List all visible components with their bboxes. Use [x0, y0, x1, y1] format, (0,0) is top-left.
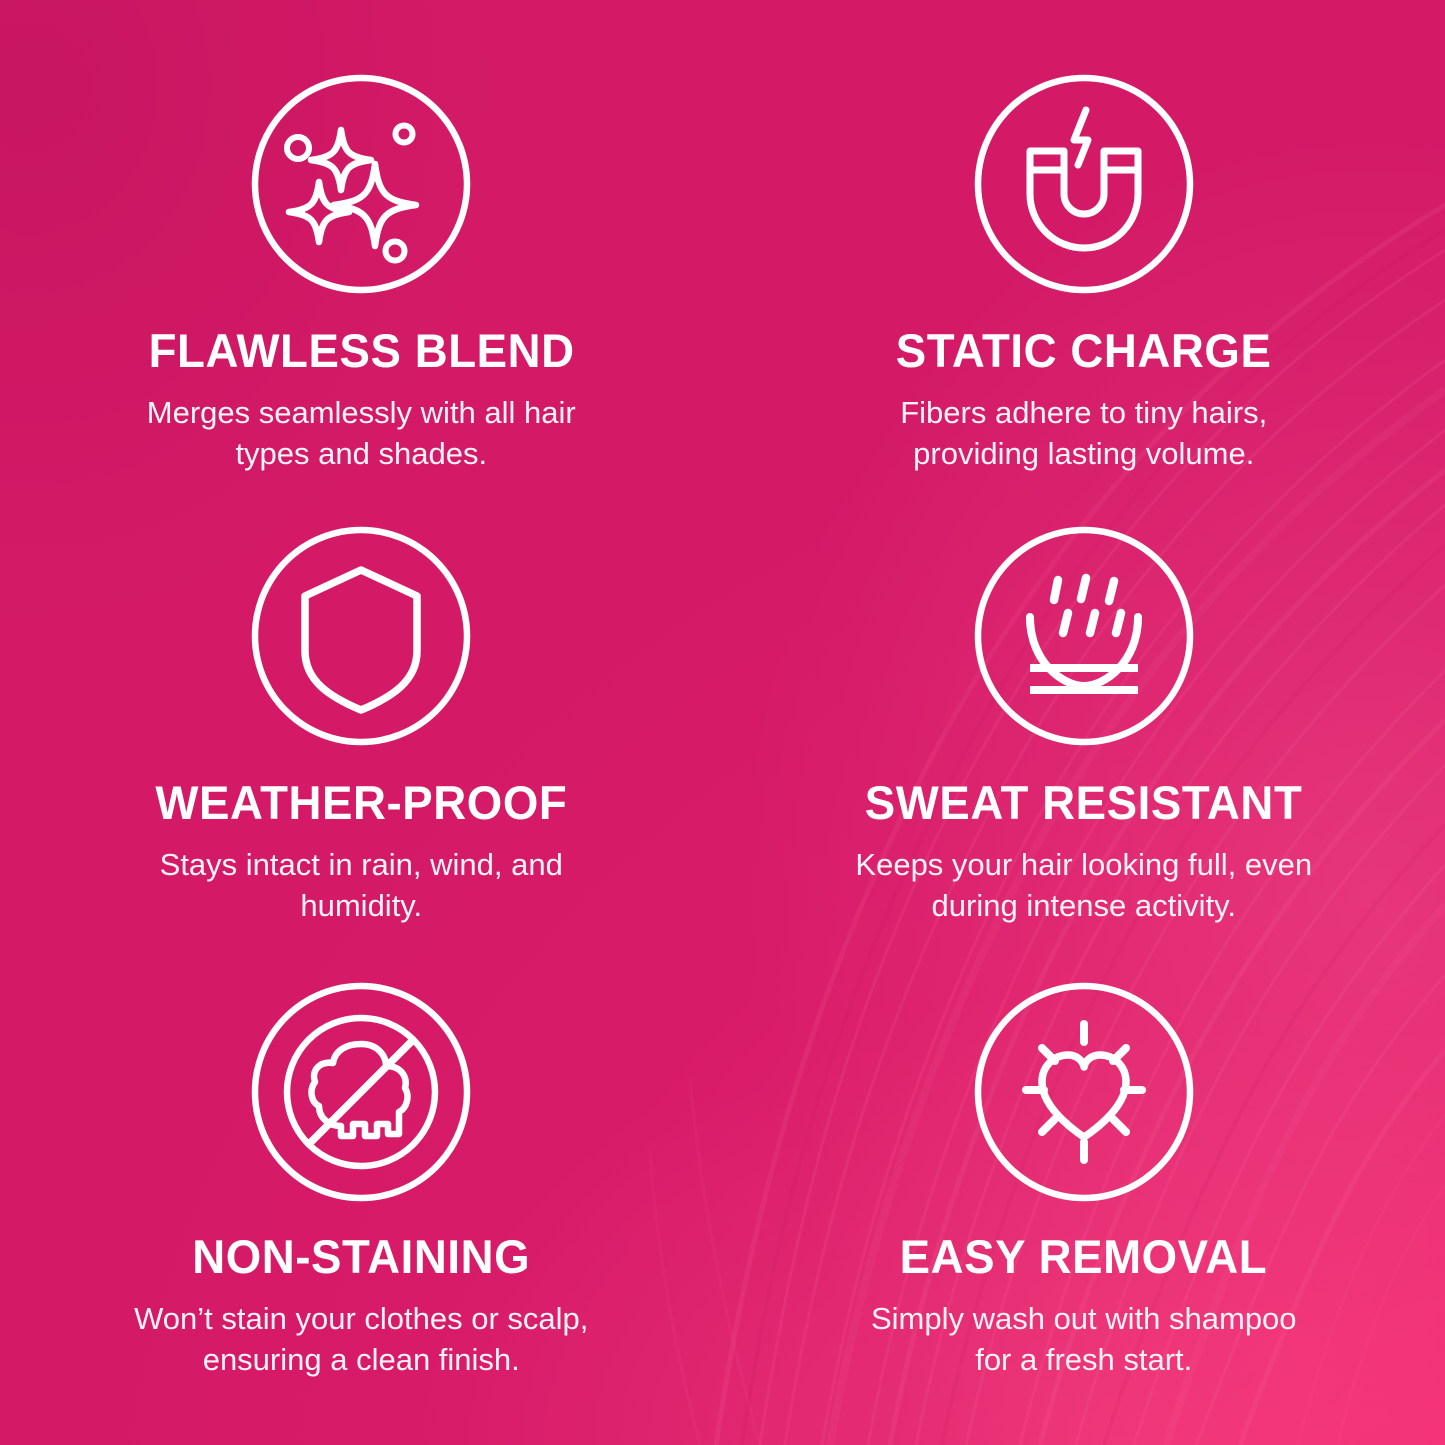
feature-title: EASY REMOVAL [900, 1232, 1268, 1281]
shield-icon [245, 520, 477, 752]
feature-item-flawless-blend: FLAWLESS BLEND Merges seamlessly with al… [0, 0, 723, 472]
feature-description: Stays intact in rain, wind, and humidity… [126, 845, 596, 927]
magnet-icon [968, 68, 1200, 300]
feature-description: Won’t stain your clothes or scalp, ensur… [126, 1299, 596, 1381]
feature-description: Fibers adhere to tiny hairs, providing l… [849, 393, 1319, 475]
feature-item-static-charge: STATIC CHARGE Fibers adhere to tiny hair… [723, 0, 1445, 472]
feature-title: SWEAT RESISTANT [865, 778, 1303, 827]
feature-title: NON-STAINING [192, 1232, 530, 1281]
no-stain-icon [245, 976, 477, 1208]
feature-item-sweat-resistant: SWEAT RESISTANT Keeps your hair looking … [723, 472, 1445, 934]
shining-heart-icon [968, 976, 1200, 1208]
feature-title: STATIC CHARGE [896, 326, 1272, 375]
features-grid: FLAWLESS BLEND Merges seamlessly with al… [0, 0, 1445, 1445]
feature-title: FLAWLESS BLEND [148, 326, 574, 375]
feature-description: Simply wash out with shampoo for a fresh… [849, 1299, 1319, 1381]
feature-title: WEATHER-PROOF [155, 778, 567, 827]
feature-grid-poster: FLAWLESS BLEND Merges seamlessly with al… [0, 0, 1445, 1445]
feature-item-weather-proof: WEATHER-PROOF Stays intact in rain, wind… [0, 472, 723, 934]
feature-item-easy-removal: EASY REMOVAL Simply wash out with shampo… [723, 934, 1445, 1445]
feature-description: Keeps your hair looking full, even durin… [849, 845, 1319, 927]
water-repellent-icon [968, 520, 1200, 752]
sparkles-icon [245, 68, 477, 300]
feature-item-non-staining: NON-STAINING Won’t stain your clothes or… [0, 934, 723, 1445]
feature-description: Merges seamlessly with all hair types an… [126, 393, 596, 475]
